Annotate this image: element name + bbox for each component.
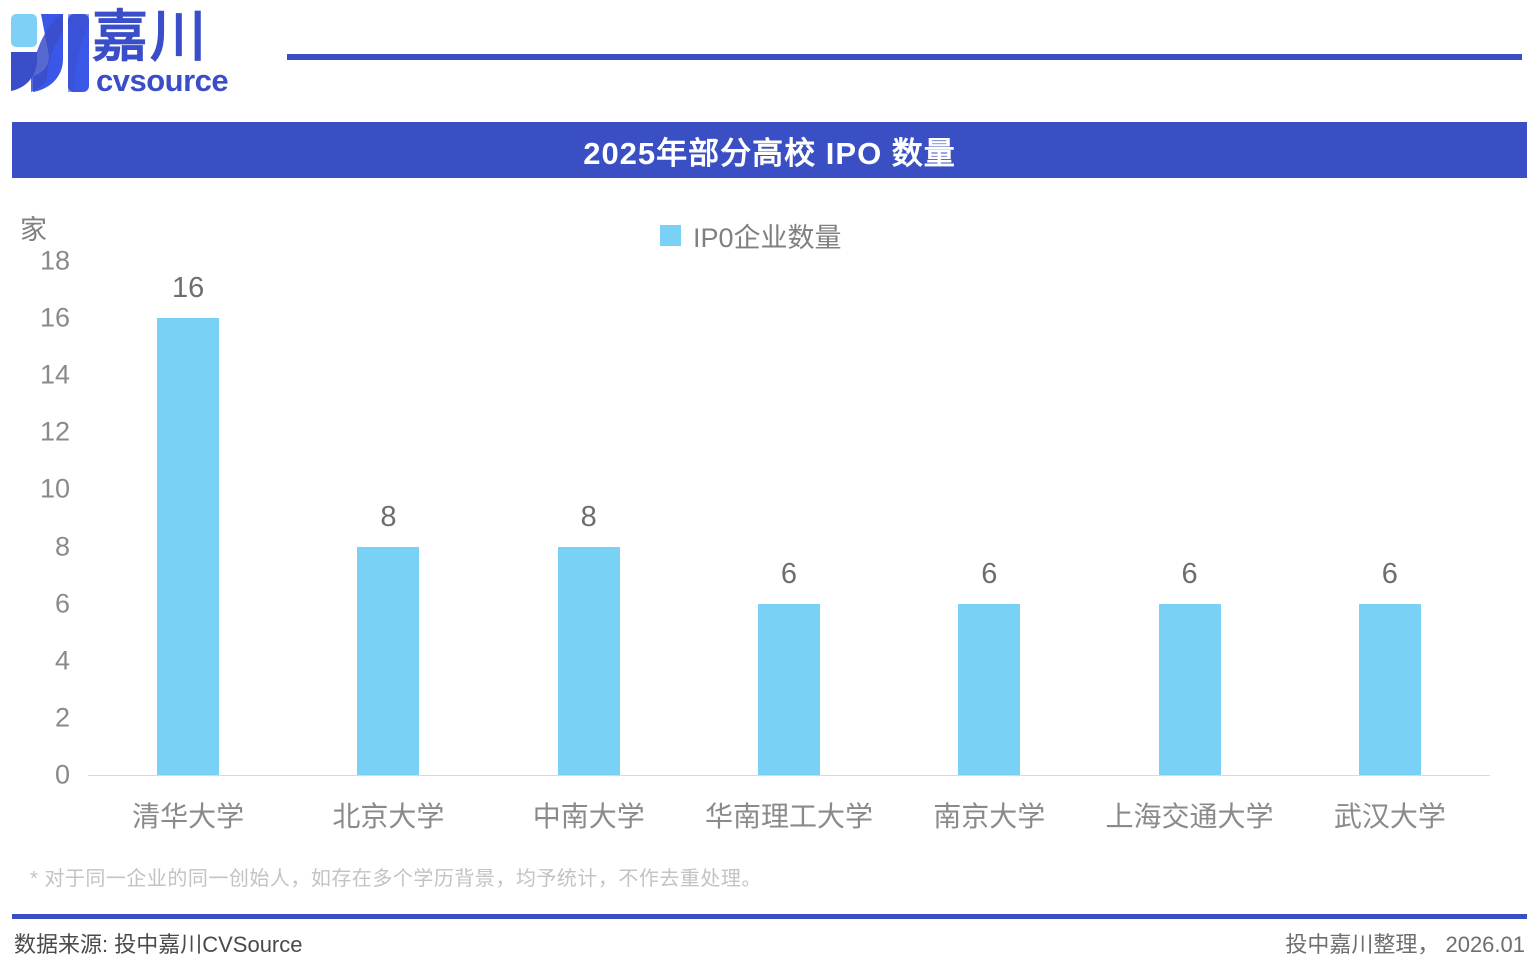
bar-value-label: 6 bbox=[709, 558, 869, 591]
bar-北京大学[interactable] bbox=[357, 547, 419, 775]
header-divider bbox=[287, 54, 1522, 60]
footer-divider bbox=[12, 914, 1527, 919]
y-axis-tick: 8 bbox=[0, 531, 70, 562]
y-axis-tick: 6 bbox=[0, 588, 70, 619]
bar-中南大学[interactable] bbox=[558, 547, 620, 775]
x-axis-line bbox=[88, 775, 1490, 776]
y-axis-tick: 4 bbox=[0, 645, 70, 676]
data-source-label: 数据来源: 投中嘉川CVSource bbox=[14, 927, 303, 959]
bar-value-label: 6 bbox=[1310, 558, 1470, 591]
bar-value-label: 8 bbox=[509, 501, 669, 534]
y-axis-tick: 18 bbox=[0, 246, 70, 277]
bar-华南理工大学[interactable] bbox=[758, 604, 820, 775]
page-header: 嘉川 cvsource bbox=[0, 0, 1539, 110]
compiled-by-label: 投中嘉川整理， 2026.01 bbox=[1285, 927, 1525, 959]
chart-container: 家 IP0企业数量 18161412108642016清华大学8北京大学8中南大… bbox=[0, 178, 1539, 848]
y-axis-tick: 0 bbox=[0, 760, 70, 791]
bar-清华大学[interactable] bbox=[157, 318, 219, 775]
bar-value-label: 16 bbox=[108, 272, 268, 305]
bar-value-label: 8 bbox=[308, 501, 468, 534]
x-axis-label: 武汉大学 bbox=[1260, 795, 1520, 835]
plot-area: 18161412108642016清华大学8北京大学8中南大学6华南理工大学6南… bbox=[0, 178, 1539, 848]
chart-footnote: * 对于同一企业的同一创始人，如存在多个学历背景，均予统计，不作去重处理。 bbox=[30, 862, 762, 891]
brand-name-cn: 嘉川 bbox=[92, 6, 208, 68]
bar-武汉大学[interactable] bbox=[1359, 604, 1421, 775]
brand-wordmark: 嘉川 cvsource bbox=[92, 6, 257, 98]
y-axis-tick: 12 bbox=[0, 417, 70, 448]
y-axis-tick: 10 bbox=[0, 474, 70, 505]
bar-value-label: 6 bbox=[909, 558, 1069, 591]
chart-title-banner: 2025年部分高校 IPO 数量 bbox=[12, 122, 1527, 178]
page-title: 2025年部分高校 IPO 数量 bbox=[583, 128, 956, 173]
y-axis-tick: 14 bbox=[0, 360, 70, 391]
y-axis-tick: 2 bbox=[0, 702, 70, 733]
bar-value-label: 6 bbox=[1110, 558, 1270, 591]
jiachuan-logo-mark-icon bbox=[8, 8, 92, 94]
y-axis-tick: 16 bbox=[0, 303, 70, 334]
bar-南京大学[interactable] bbox=[958, 604, 1020, 775]
brand-name-en: cvsource bbox=[96, 64, 228, 98]
bar-上海交通大学[interactable] bbox=[1159, 604, 1221, 775]
